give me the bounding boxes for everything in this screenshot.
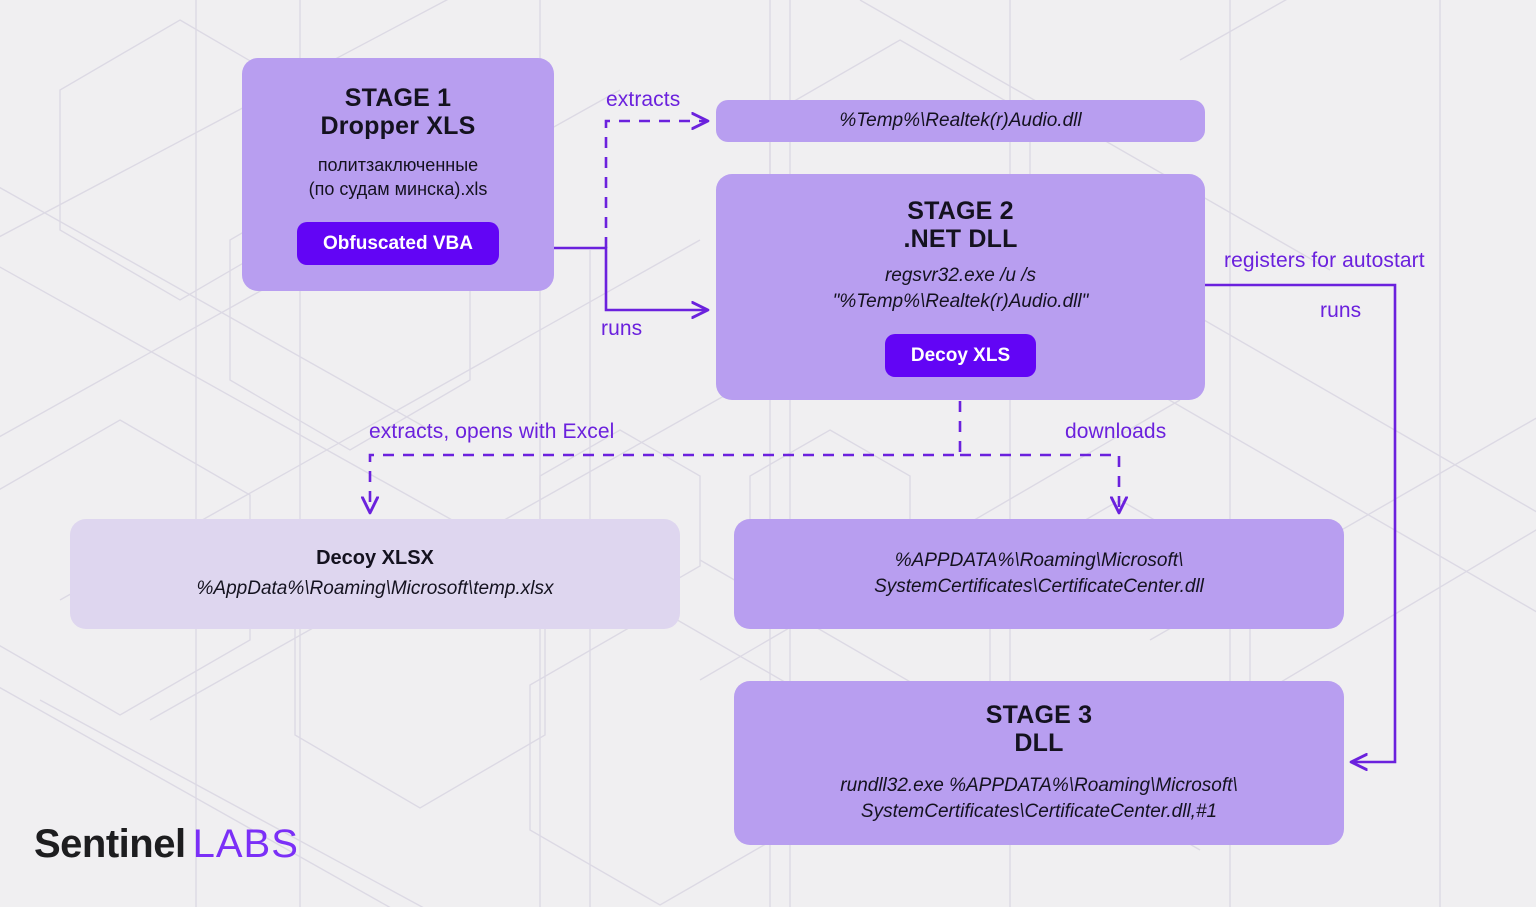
temp-dll-path: %Temp%\Realtek(r)Audio.dll — [839, 108, 1081, 134]
node-stage-3-dll[interactable]: STAGE 3 DLL rundll32.exe %APPDATA%\Roami… — [734, 681, 1344, 845]
node-temp-realtek-audio-dll[interactable]: %Temp%\Realtek(r)Audio.dll — [716, 100, 1205, 142]
stage3-title: STAGE 3 DLL — [986, 701, 1093, 757]
edge-label-runs-stage2: runs — [601, 317, 642, 341]
edge-label-registers-for-autostart: registers for autostart — [1224, 249, 1425, 273]
edge-label-extracts: extracts — [606, 88, 680, 112]
stage2-title: STAGE 2 .NET DLL — [903, 197, 1017, 253]
decoy-xlsx-path: %AppData%\Roaming\Microsoft\temp.xlsx — [197, 576, 554, 602]
edge-label-downloads: downloads — [1065, 420, 1166, 444]
diagram-canvas: STAGE 1 Dropper XLS политзаключенные (по… — [0, 0, 1536, 907]
sentinel-labs-logo: Sentinel LABS — [34, 822, 299, 867]
obfuscated-vba-chip[interactable]: Obfuscated VBA — [297, 222, 499, 265]
stage2-command: regsvr32.exe /u /s "%Temp%\Realtek(r)Aud… — [833, 263, 1089, 314]
stage3-command: rundll32.exe %APPDATA%\Roaming\Microsoft… — [840, 773, 1237, 824]
node-appdata-certificatecenter-dll[interactable]: %APPDATA%\Roaming\Microsoft\ SystemCerti… — [734, 519, 1344, 629]
edge-downloads — [960, 455, 1119, 512]
edge-extracts-opens-with-excel — [370, 401, 960, 512]
node-stage-1-dropper-xls[interactable]: STAGE 1 Dropper XLS политзаключенные (по… — [242, 58, 554, 291]
edge-label-runs-stage3: runs — [1320, 299, 1361, 323]
decoy-xlsx-title: Decoy XLSX — [316, 547, 434, 570]
node-stage-2-net-dll[interactable]: STAGE 2 .NET DLL regsvr32.exe /u /s "%Te… — [716, 174, 1205, 400]
appdata-dll-path: %APPDATA%\Roaming\Microsoft\ SystemCerti… — [874, 548, 1204, 599]
edge-extracts — [606, 121, 707, 248]
stage1-filename: политзаключенные (по судам минска).xls — [309, 154, 488, 202]
decoy-xls-chip[interactable]: Decoy XLS — [885, 334, 1036, 377]
edge-label-extracts-opens-with-excel: extracts, opens with Excel — [369, 420, 614, 444]
logo-primary-text: Sentinel — [34, 822, 186, 867]
node-decoy-xlsx[interactable]: Decoy XLSX %AppData%\Roaming\Microsoft\t… — [70, 519, 680, 629]
stage1-title: STAGE 1 Dropper XLS — [321, 84, 476, 140]
logo-secondary-text: LABS — [193, 822, 299, 867]
